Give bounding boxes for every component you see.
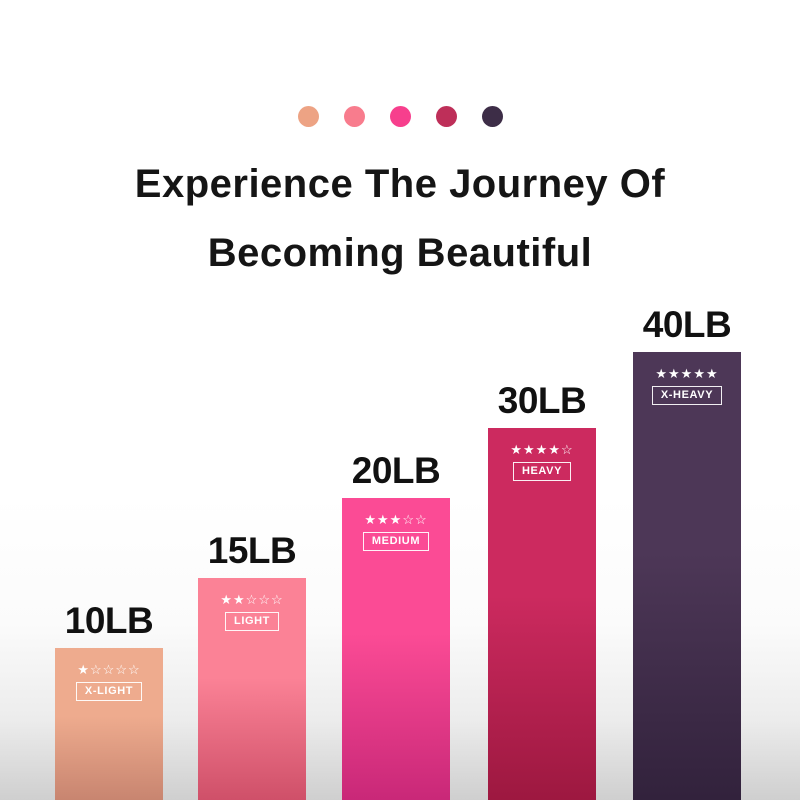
bar-level-label: LIGHT <box>225 612 279 631</box>
bar-column[interactable]: 15LB★★☆☆☆LIGHT <box>198 578 306 800</box>
bar-column[interactable]: 20LB★★★☆☆MEDIUM <box>342 498 450 800</box>
bar-weight-label: 15LB <box>208 530 296 572</box>
bar-level-label: X-HEAVY <box>652 386 722 405</box>
star-rating-icon: ★★★★☆ <box>496 442 588 458</box>
bar-badge: ★★★★☆HEAVY <box>496 442 588 481</box>
bar-weight-label: 20LB <box>352 450 440 492</box>
bar-rect[interactable]: ★★☆☆☆LIGHT <box>198 578 306 800</box>
bar-weight-label: 40LB <box>643 304 731 346</box>
resistance-bar-chart: 10LB★☆☆☆☆X-LIGHT15LB★★☆☆☆LIGHT20LB★★★☆☆M… <box>0 0 800 800</box>
bar-level-label: HEAVY <box>513 462 571 481</box>
star-rating-icon: ★★★☆☆ <box>350 512 442 528</box>
bar-level-label: X-LIGHT <box>76 682 142 701</box>
bar-weight-label: 10LB <box>65 600 153 642</box>
bar-column[interactable]: 10LB★☆☆☆☆X-LIGHT <box>55 648 163 800</box>
bar-weight-label: 30LB <box>498 380 586 422</box>
bar-column[interactable]: 40LB★★★★★X-HEAVY <box>633 352 741 800</box>
bar-badge: ★★☆☆☆LIGHT <box>206 592 298 631</box>
bar-rect[interactable]: ★★★★☆HEAVY <box>488 428 596 800</box>
bar-badge: ★★★☆☆MEDIUM <box>350 512 442 551</box>
star-rating-icon: ★★★★★ <box>641 366 733 382</box>
bar-rect[interactable]: ★☆☆☆☆X-LIGHT <box>55 648 163 800</box>
bar-badge: ★☆☆☆☆X-LIGHT <box>63 662 155 701</box>
bar-level-label: MEDIUM <box>363 532 429 551</box>
star-rating-icon: ★☆☆☆☆ <box>63 662 155 678</box>
bar-rect[interactable]: ★★★☆☆MEDIUM <box>342 498 450 800</box>
promo-chart-canvas: Experience The Journey Of Becoming Beaut… <box>0 0 800 800</box>
bar-rect[interactable]: ★★★★★X-HEAVY <box>633 352 741 800</box>
bar-badge: ★★★★★X-HEAVY <box>641 366 733 405</box>
star-rating-icon: ★★☆☆☆ <box>206 592 298 608</box>
bar-column[interactable]: 30LB★★★★☆HEAVY <box>488 428 596 800</box>
